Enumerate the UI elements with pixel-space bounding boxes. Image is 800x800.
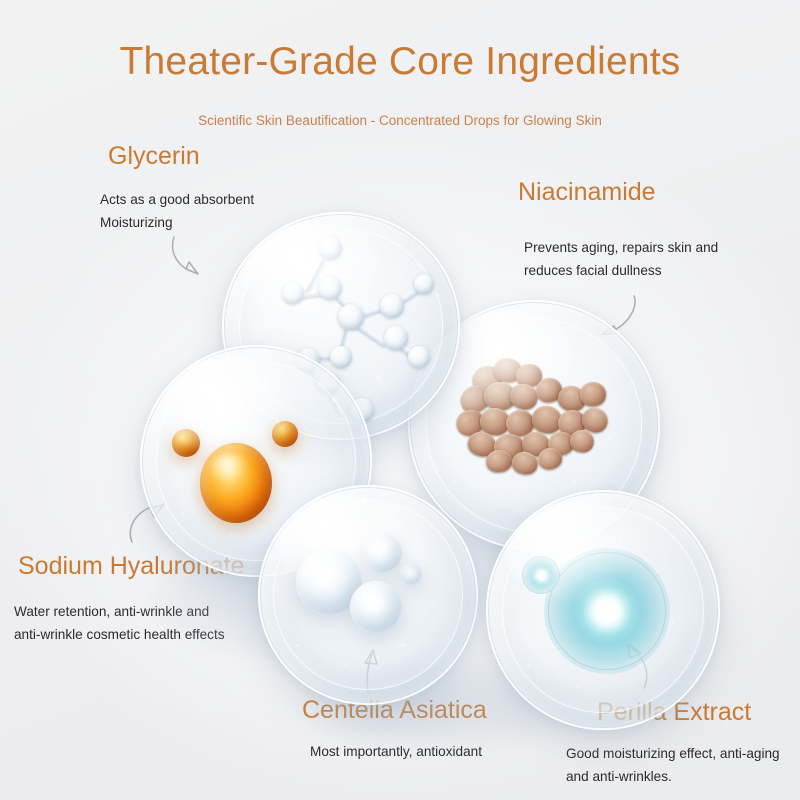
desc-line: Prevents aging, repairs skin and [524,236,718,259]
ingredient-desc-centella-asiatica: Most importantly, antioxidant [310,740,482,763]
desc-line: and anti-wrinkles. [566,765,780,788]
desc-line: Acts as a good absorbent [100,188,254,211]
ingredient-name-glycerin: Glycerin [108,142,200,171]
ingredient-desc-sodium-hyaluronate: Water retention, anti-wrinkle and anti-w… [14,600,225,647]
page-subtitle: Scientific Skin Beautification - Concent… [0,113,800,128]
teal-glow-sphere-icon [486,490,720,730]
glass-spheres-icon [258,485,478,705]
ingredient-name-niacinamide: Niacinamide [518,178,656,207]
curved-arrow-down-right-icon [168,233,224,285]
desc-line: Most importantly, antioxidant [310,740,482,763]
ingredient-desc-perilla-extract: Good moisturizing effect, anti-aging and… [566,742,780,789]
petri-dish-centella-asiatica[interactable] [258,485,478,705]
ingredient-desc-niacinamide: Prevents aging, repairs skin and reduces… [524,236,718,283]
page-title: Theater-Grade Core Ingredients [0,40,800,84]
desc-line: Water retention, anti-wrinkle and [14,600,225,623]
desc-line: anti-wrinkle cosmetic health effects [14,623,225,646]
desc-line: Good moisturizing effect, anti-aging [566,742,780,765]
ingredient-infographic: Theater-Grade Core Ingredients Scientifi… [0,0,800,800]
petri-dish-perilla-extract[interactable] [486,490,720,730]
desc-line: reduces facial dullness [524,259,718,282]
